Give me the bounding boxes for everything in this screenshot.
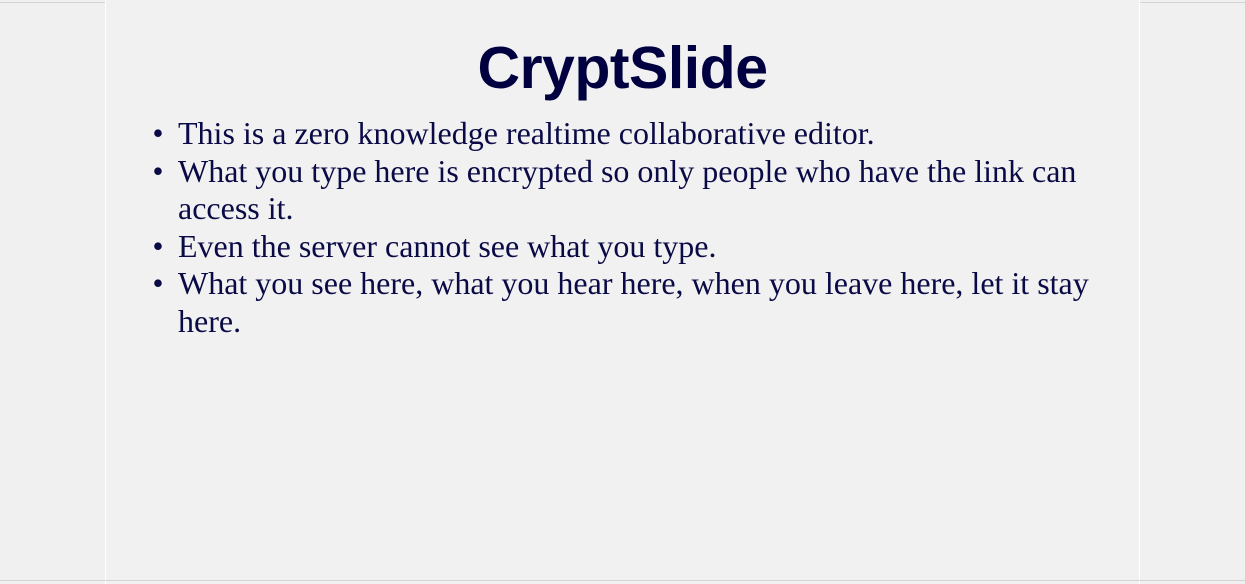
page-title: CryptSlide [106,38,1139,100]
right-gutter [1140,0,1245,584]
bullet-point-icon: • [152,228,164,266]
slide-body: • This is a zero knowledge realtime coll… [106,115,1140,340]
list-item-text: This is a zero knowledge realtime collab… [178,115,1133,153]
list-item[interactable]: • What you type here is encrypted so onl… [106,153,1133,228]
list-item[interactable]: • This is a zero knowledge realtime coll… [106,115,1133,153]
bullet-point-icon: • [152,115,164,153]
list-item-text: Even the server cannot see what you type… [178,228,1133,266]
bullet-point-icon: • [152,153,164,191]
list-item-text: What you see here, what you hear here, w… [178,265,1133,340]
bullet-point-icon: • [152,265,164,303]
bottom-divider [0,580,1245,581]
slide-canvas[interactable]: CryptSlide • This is a zero knowledge re… [105,0,1140,584]
list-item[interactable]: • What you see here, what you hear here,… [106,265,1133,340]
left-gutter [0,0,105,584]
list-item[interactable]: • Even the server cannot see what you ty… [106,228,1133,266]
bullet-list: • This is a zero knowledge realtime coll… [106,115,1140,340]
list-item-text: What you type here is encrypted so only … [178,153,1133,228]
slide-viewer: CryptSlide • This is a zero knowledge re… [0,0,1245,584]
